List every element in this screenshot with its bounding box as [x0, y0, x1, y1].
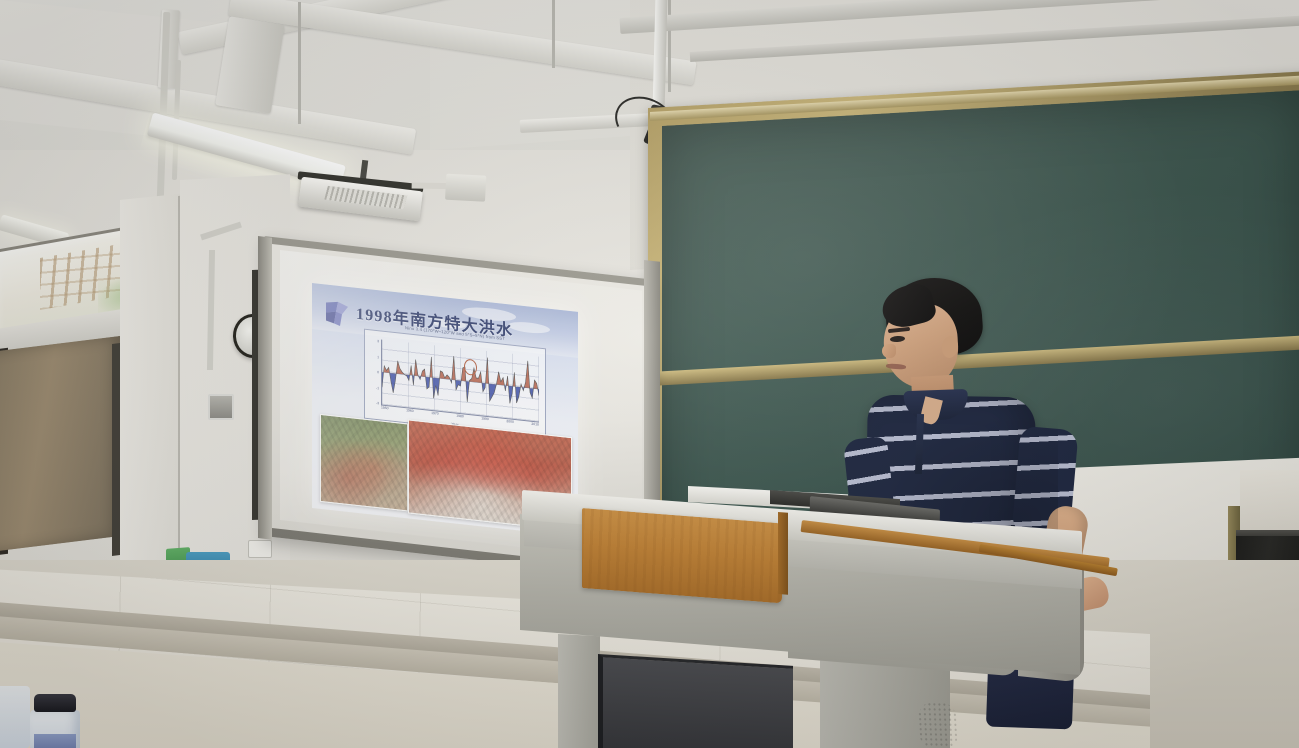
wall-switch-panel[interactable]	[208, 394, 234, 420]
lecture-hall-photo: 1998年南方特大洪水 Nino 3.4 (170°W–120°W and 5°…	[0, 0, 1299, 748]
x-tick: 2000	[506, 419, 514, 426]
ceiling-hanger-rod	[552, 0, 555, 68]
lectern-monitor-panel[interactable]	[598, 654, 793, 748]
y-tick: -3	[376, 401, 379, 405]
power-outlet[interactable]	[248, 540, 272, 558]
x-tick: 1960	[406, 408, 414, 415]
x-tick: 1990	[481, 416, 489, 423]
bottle-water	[34, 734, 76, 748]
slide-photo-left	[320, 414, 408, 512]
teaching-lectern	[520, 484, 1120, 748]
projector-ceiling-plate	[445, 174, 486, 202]
projector-vent	[324, 186, 407, 209]
lectern-wood-panel	[582, 508, 782, 603]
y-tick: 1	[377, 355, 379, 359]
y-tick: -1	[376, 385, 379, 389]
screen-side-trim-left	[258, 236, 272, 540]
presenter-nose	[882, 344, 896, 358]
classroom-door[interactable]	[0, 336, 120, 552]
chart-annotation-circle	[464, 359, 477, 376]
institution-logo-icon	[324, 298, 350, 329]
ceiling-hanger-rod	[298, 2, 301, 124]
y-tick: 0	[377, 370, 379, 374]
x-tick: 2010	[531, 422, 539, 429]
presenter-mouth	[886, 363, 906, 369]
lectern-left-leg	[558, 634, 600, 748]
lectern-speaker-vent	[917, 702, 959, 748]
water-bottle[interactable]	[28, 694, 82, 748]
lectern-wood-panel-edge	[778, 512, 788, 595]
x-tick: 1970	[431, 411, 439, 418]
x-tick: 1950	[381, 405, 389, 412]
bottle-cap	[34, 694, 76, 712]
water-bottle-secondary[interactable]	[0, 686, 30, 748]
y-tick: 3	[377, 339, 379, 343]
photo-texture	[321, 415, 407, 510]
chart-y-axis-ticks: 3 1 0 -1 -3	[367, 338, 379, 405]
wall-column	[120, 193, 186, 580]
x-tick: 1980	[456, 414, 464, 421]
